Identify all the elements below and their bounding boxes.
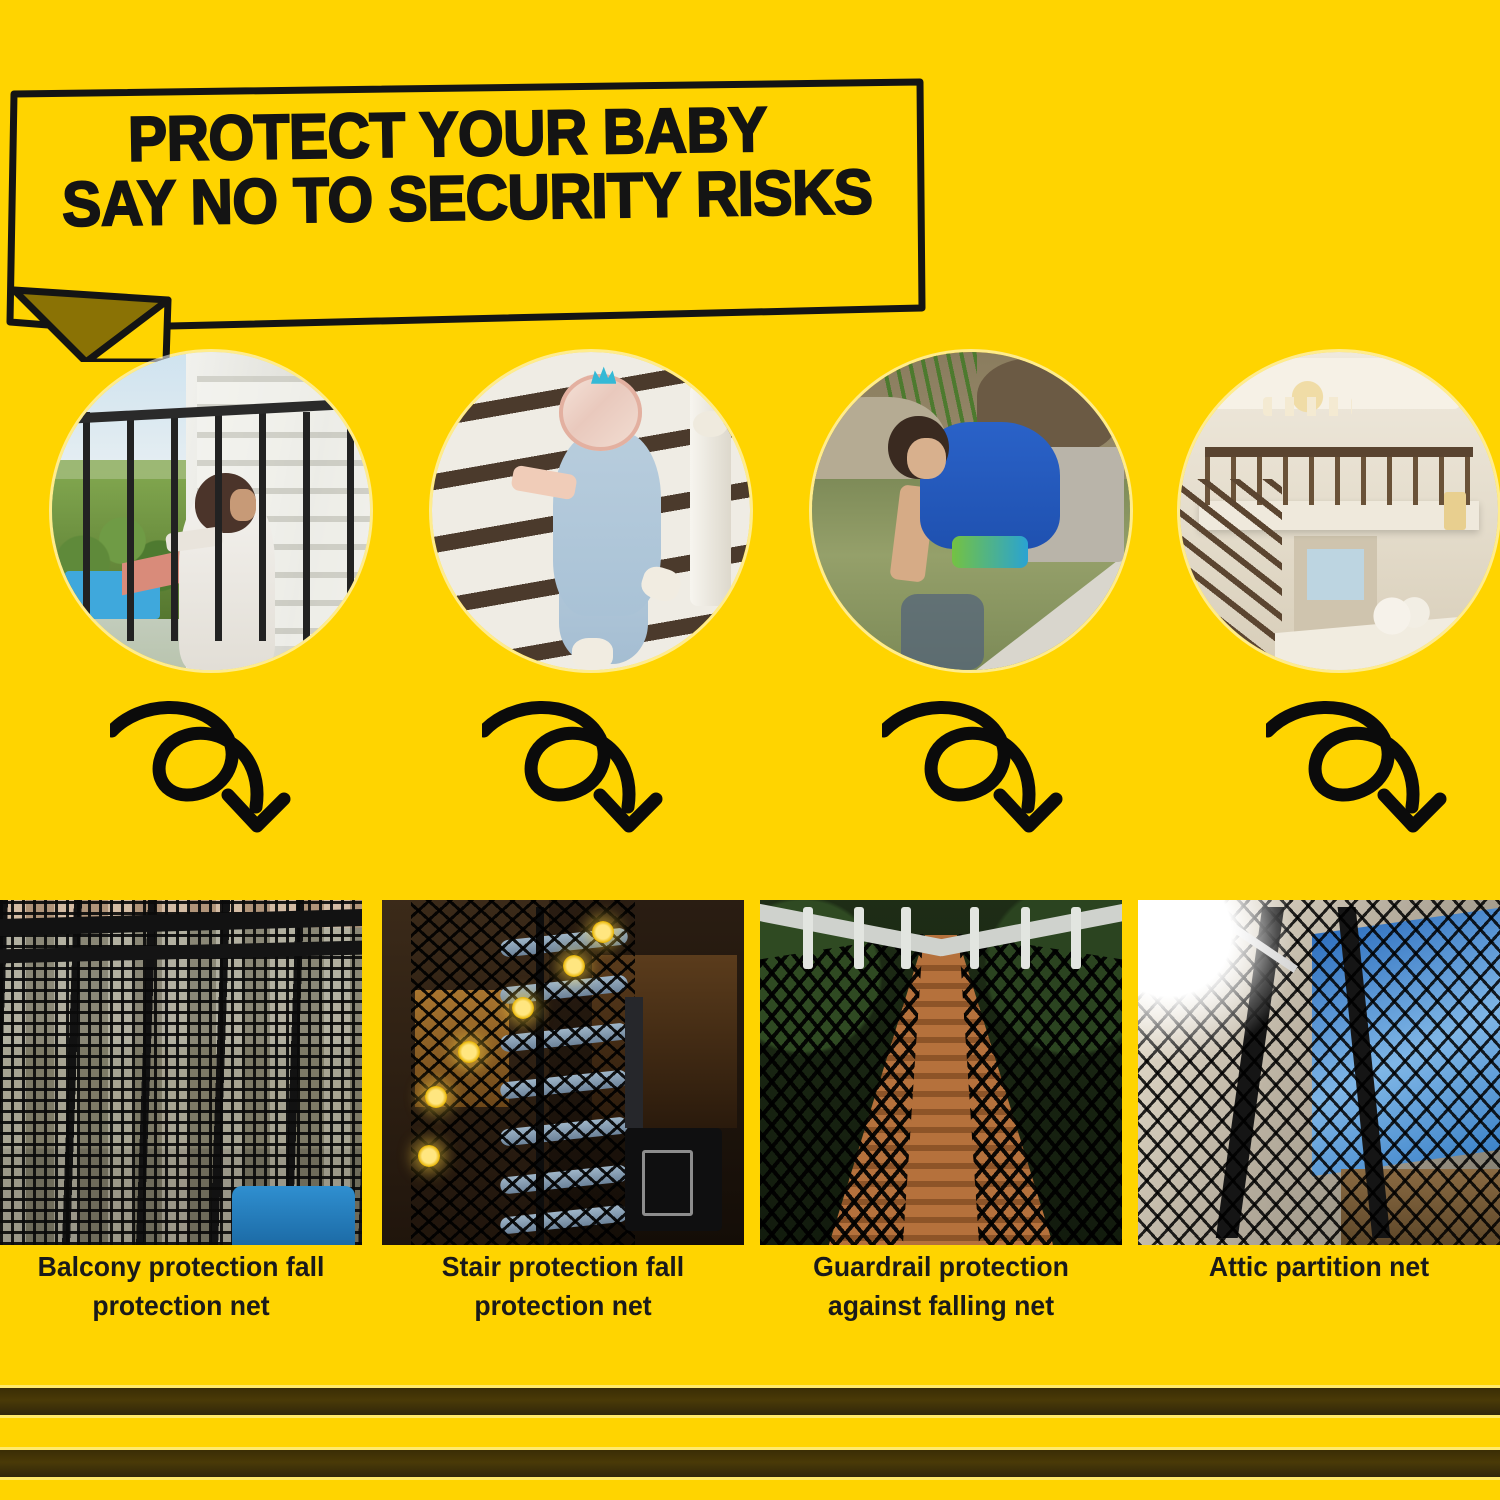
curly-arrow-icon <box>882 695 1072 845</box>
stripe-highlight-bottom <box>0 1477 1500 1480</box>
caption-balcony-line2: protection net <box>9 1287 353 1326</box>
caption-guardrail-line1: Guardrail protection <box>769 1248 1113 1287</box>
bottom-stripe-2 <box>0 1450 1500 1477</box>
risk-pond <box>812 352 1130 670</box>
curly-arrow-icon <box>1266 695 1456 845</box>
caption-balcony-line1: Balcony protection fall <box>9 1248 353 1287</box>
curly-down-arrow-2 <box>482 695 672 845</box>
solution-photo-strip <box>0 900 1500 1245</box>
risk-mezzanine <box>1180 352 1498 670</box>
caption-stairs-line1: Stair protection fall <box>391 1248 735 1287</box>
caption-guardrail: Guardrail protection against falling net <box>760 1248 1122 1325</box>
solution-attic <box>1138 900 1500 1245</box>
risk-balcony <box>52 352 370 670</box>
caption-row: Balcony protection fall protection net S… <box>0 1248 1500 1358</box>
curly-down-arrow-3 <box>882 695 1072 845</box>
caption-attic: Attic partition net <box>1138 1248 1500 1287</box>
caption-stairs-line2: protection net <box>391 1287 735 1326</box>
curly-down-arrow-1 <box>110 695 300 845</box>
solution-guardrail <box>760 900 1122 1245</box>
risk-stairs <box>432 352 750 670</box>
stripe-highlight-bottom <box>0 1415 1500 1418</box>
banner-line-2: SAY NO TO SECURITY RISKS <box>56 160 875 237</box>
caption-stairs: Stair protection fall protection net <box>382 1248 744 1325</box>
arrow-row <box>0 695 1500 855</box>
risk-photo-row <box>0 352 1500 682</box>
curly-arrow-icon <box>482 695 672 845</box>
stripe-core <box>0 1450 1500 1477</box>
infographic-poster: PROTECT YOUR BABY SAY NO TO SECURITY RIS… <box>0 0 1500 1500</box>
bottom-stripe-1 <box>0 1388 1500 1415</box>
solution-balcony <box>0 900 362 1245</box>
stripe-core <box>0 1388 1500 1415</box>
caption-attic-line1: Attic partition net <box>1147 1248 1491 1287</box>
curly-arrow-icon <box>110 695 300 845</box>
solution-stairs <box>382 900 744 1245</box>
caption-guardrail-line2: against falling net <box>769 1287 1113 1326</box>
curly-down-arrow-4 <box>1266 695 1456 845</box>
banner-text-block: PROTECT YOUR BABY SAY NO TO SECURITY RIS… <box>55 95 937 237</box>
title-banner: PROTECT YOUR BABY SAY NO TO SECURITY RIS… <box>0 72 960 362</box>
caption-balcony: Balcony protection fall protection net <box>0 1248 362 1325</box>
